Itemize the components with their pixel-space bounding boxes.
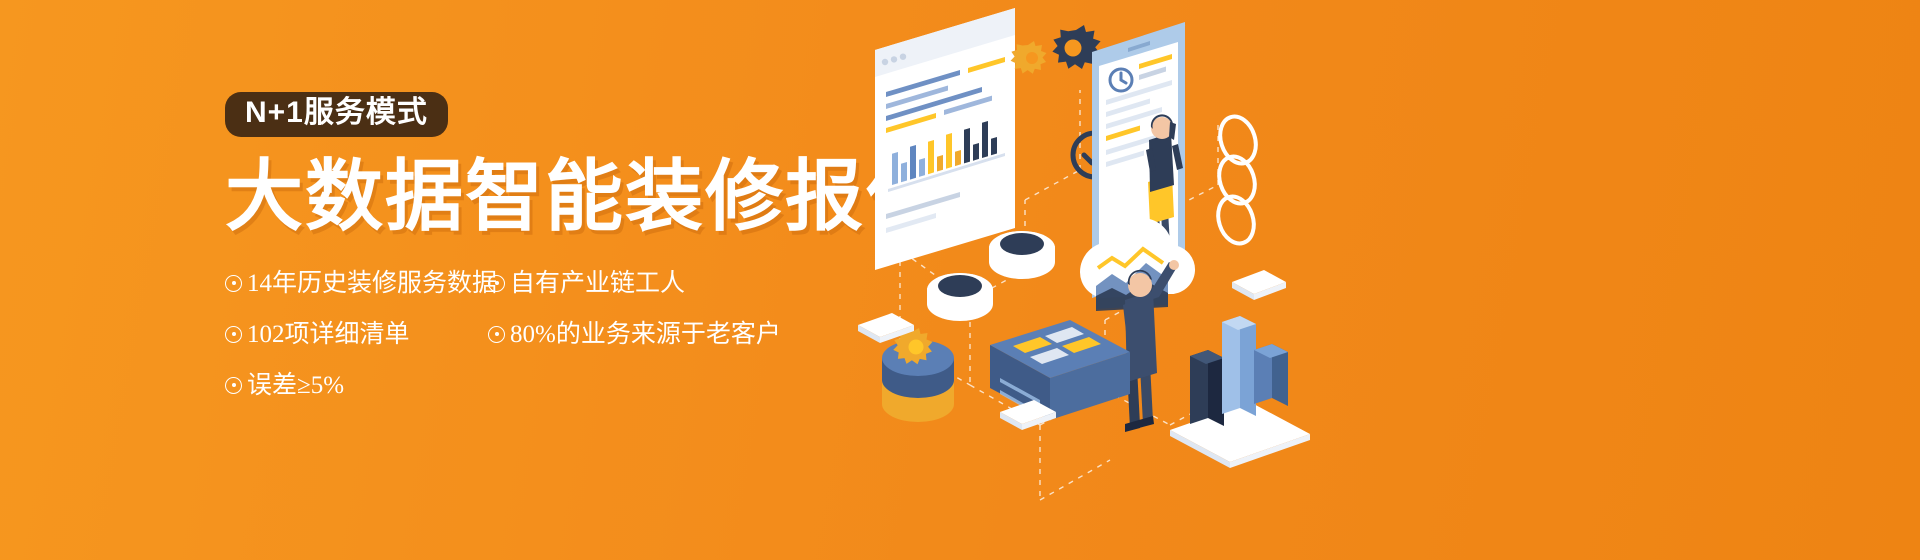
bullet-label: 自有产业链工人: [510, 271, 685, 296]
isometric-big-data-illustration: [840, 0, 1440, 560]
banner-headline: 大数据智能装修报价: [225, 157, 945, 237]
list-item: 自有产业链工人: [488, 271, 808, 296]
bullet-label: 14年历史装修服务数据: [247, 271, 497, 296]
bar-chart-3d: [1170, 316, 1310, 468]
bullet-label: 102项详细清单: [247, 322, 410, 347]
banner-text-block: N+1服务模式 大数据智能装修报价 14年历史装修服务数据 102项详细清单 误…: [225, 92, 945, 424]
feature-bullet-list: 14年历史装修服务数据 102项详细清单 误差≥5% 自有产业链工人: [225, 271, 945, 424]
bullet-label: 误差≥5%: [247, 373, 344, 398]
ring-stack-icon: [1212, 112, 1261, 248]
list-item: 80%的业务来源于老客户: [488, 322, 808, 347]
bullet-label: 80%的业务来源于老客户: [510, 322, 781, 347]
gear-icon-small: [1011, 41, 1047, 74]
browser-window-chart: [875, 8, 1015, 270]
circled-dot-icon: [225, 275, 242, 292]
bullet-column-left: 14年历史装修服务数据 102项详细清单 误差≥5%: [225, 271, 488, 424]
circled-dot-icon: [225, 377, 242, 394]
list-item: 14年历史装修服务数据: [225, 271, 488, 296]
server-box: [990, 320, 1130, 420]
service-mode-badge: N+1服务模式: [225, 92, 448, 137]
circled-dot-icon: [225, 326, 242, 343]
circled-dot-icon: [488, 275, 505, 292]
bullet-column-right: 自有产业链工人 80%的业务来源于老客户: [488, 271, 808, 424]
circled-dot-icon: [488, 326, 505, 343]
list-item: 102项详细清单: [225, 322, 488, 347]
list-item: 误差≥5%: [225, 373, 488, 398]
promo-banner: N+1服务模式 大数据智能装修报价 14年历史装修服务数据 102项详细清单 误…: [0, 0, 1920, 560]
